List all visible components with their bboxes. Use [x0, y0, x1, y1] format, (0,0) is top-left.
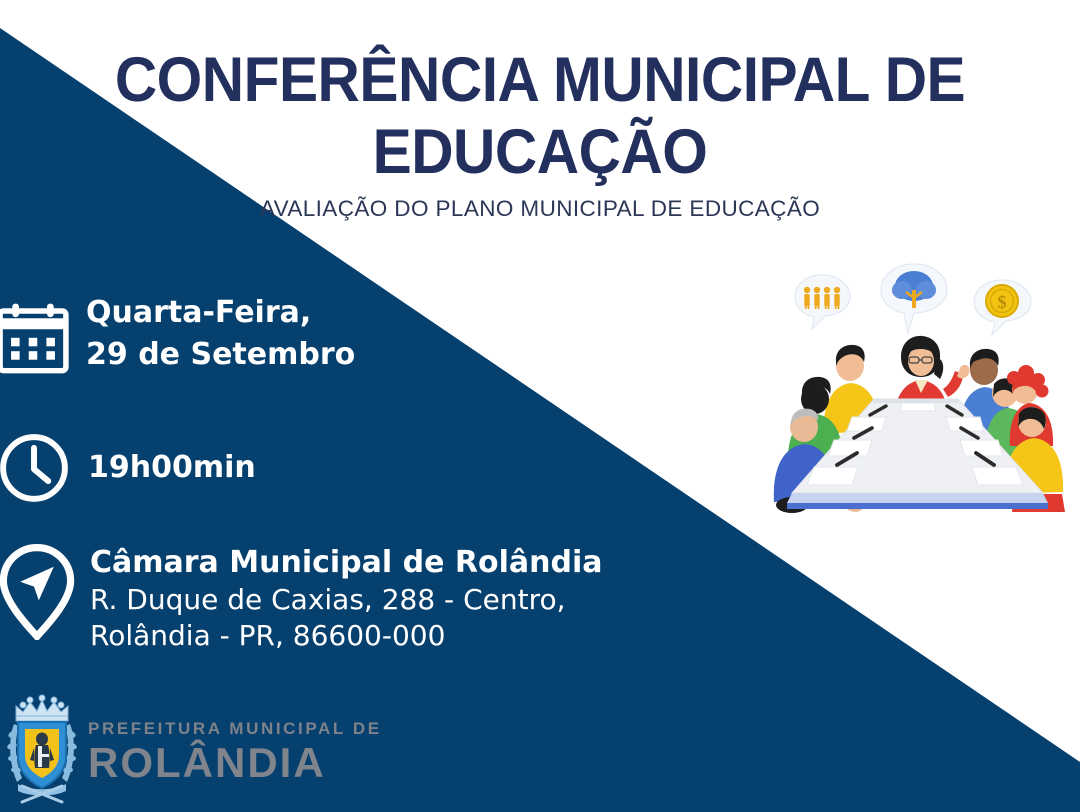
- event-date-text: Quarta-Feira, 29 de Setembro: [86, 286, 355, 376]
- money-coin-bubble-icon: $: [974, 280, 1031, 335]
- location-pin-icon: [0, 544, 76, 640]
- rolandia-coat-of-arms-icon: [4, 694, 80, 806]
- venue-name: Câmara Municipal de Rolândia: [90, 544, 602, 582]
- header-block: CONFERÊNCIA MUNICIPAL DE EDUCAÇÃO AVALIA…: [0, 44, 1080, 222]
- detail-row-date: Quarta-Feira, 29 de Setembro: [0, 286, 355, 378]
- city-hall-logo: PREFEITURA MUNICIPAL DE ROLÂNDIA: [4, 694, 382, 806]
- event-time-text: 19h00min: [88, 430, 256, 506]
- venue-address: R. Duque de Caxias, 288 - Centro, Rolând…: [90, 582, 602, 654]
- logo-wordmark: PREFEITURA MUNICIPAL DE ROLÂNDIA: [88, 718, 382, 786]
- detail-row-location: Câmara Municipal de Rolândia R. Duque de…: [0, 542, 602, 654]
- event-poster: CONFERÊNCIA MUNICIPAL DE EDUCAÇÃO AVALIA…: [0, 0, 1080, 812]
- detail-row-time: 19h00min: [0, 430, 256, 506]
- meeting-roundtable-illustration: $: [762, 262, 1068, 514]
- calendar-icon: [0, 300, 72, 378]
- clock-icon: [0, 430, 72, 506]
- logo-line-rolandia: ROLÂNDIA: [88, 740, 382, 786]
- page-title: CONFERÊNCIA MUNICIPAL DE EDUCAÇÃO: [38, 44, 1042, 188]
- tree-bubble-icon: [881, 264, 947, 334]
- logo-line-prefeitura: PREFEITURA MUNICIPAL DE: [88, 718, 382, 740]
- svg-text:$: $: [998, 292, 1007, 312]
- page-subtitle: AVALIAÇÃO DO PLANO MUNICIPAL DE EDUCAÇÃO: [0, 196, 1080, 222]
- people-group-bubble-icon: [795, 275, 850, 329]
- location-text-group: Câmara Municipal de Rolândia R. Duque de…: [90, 542, 602, 654]
